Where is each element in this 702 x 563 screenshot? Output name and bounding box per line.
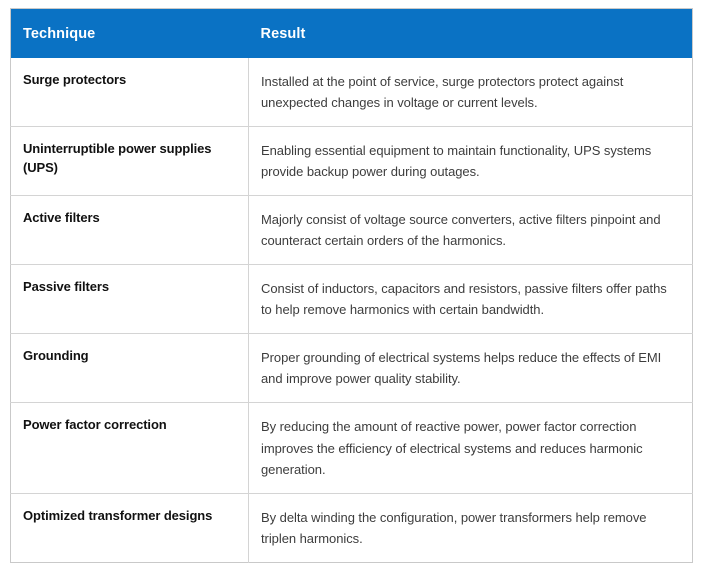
table-row: Active filters Majorly consist of voltag… bbox=[11, 196, 693, 265]
table-row: Surge protectors Installed at the point … bbox=[11, 58, 693, 127]
table-container: Technique Result Surge protectors Instal… bbox=[10, 8, 692, 563]
page-root: Technique Result Surge protectors Instal… bbox=[0, 0, 702, 463]
cell-technique: Grounding bbox=[11, 334, 249, 403]
cell-result: Consist of inductors, capacitors and res… bbox=[249, 265, 693, 334]
cell-result: Majorly consist of voltage source conver… bbox=[249, 196, 693, 265]
cell-technique: Power factor correction bbox=[11, 403, 249, 493]
header-row: Technique Result bbox=[11, 9, 693, 59]
table-row: Uninterruptible power supplies (UPS) Ena… bbox=[11, 127, 693, 196]
cell-result: By delta winding the configuration, powe… bbox=[249, 493, 693, 562]
cell-technique: Optimized transformer designs bbox=[11, 493, 249, 562]
cell-result: By reducing the amount of reactive power… bbox=[249, 403, 693, 493]
table-header: Technique Result bbox=[11, 9, 693, 59]
cell-result: Installed at the point of service, surge… bbox=[249, 58, 693, 127]
cell-result: Proper grounding of electrical systems h… bbox=[249, 334, 693, 403]
table-row: Optimized transformer designs By delta w… bbox=[11, 493, 693, 562]
cell-result: Enabling essential equipment to maintain… bbox=[249, 127, 693, 196]
table-row: Power factor correction By reducing the … bbox=[11, 403, 693, 493]
column-header-result: Result bbox=[249, 9, 693, 59]
cell-technique: Passive filters bbox=[11, 265, 249, 334]
cell-technique: Active filters bbox=[11, 196, 249, 265]
table-body: Surge protectors Installed at the point … bbox=[11, 58, 693, 562]
cell-technique: Surge protectors bbox=[11, 58, 249, 127]
column-header-technique: Technique bbox=[11, 9, 249, 59]
table-row: Grounding Proper grounding of electrical… bbox=[11, 334, 693, 403]
table-row: Passive filters Consist of inductors, ca… bbox=[11, 265, 693, 334]
cell-technique: Uninterruptible power supplies (UPS) bbox=[11, 127, 249, 196]
techniques-result-table: Technique Result Surge protectors Instal… bbox=[10, 8, 693, 563]
